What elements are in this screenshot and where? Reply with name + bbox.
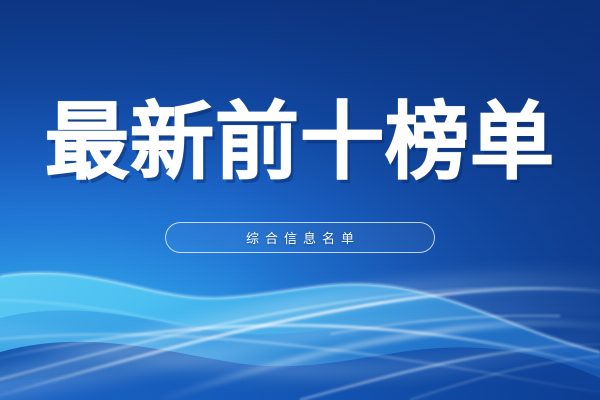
page-title: 最新前十榜单 bbox=[0, 100, 600, 184]
subtitle-text: 综合信息名单 bbox=[240, 228, 360, 247]
banner-content: 最新前十榜单 综合信息名单 bbox=[0, 0, 600, 400]
subtitle-badge: 综合信息名单 bbox=[165, 222, 435, 253]
promo-banner: 最新前十榜单 综合信息名单 bbox=[0, 0, 600, 400]
